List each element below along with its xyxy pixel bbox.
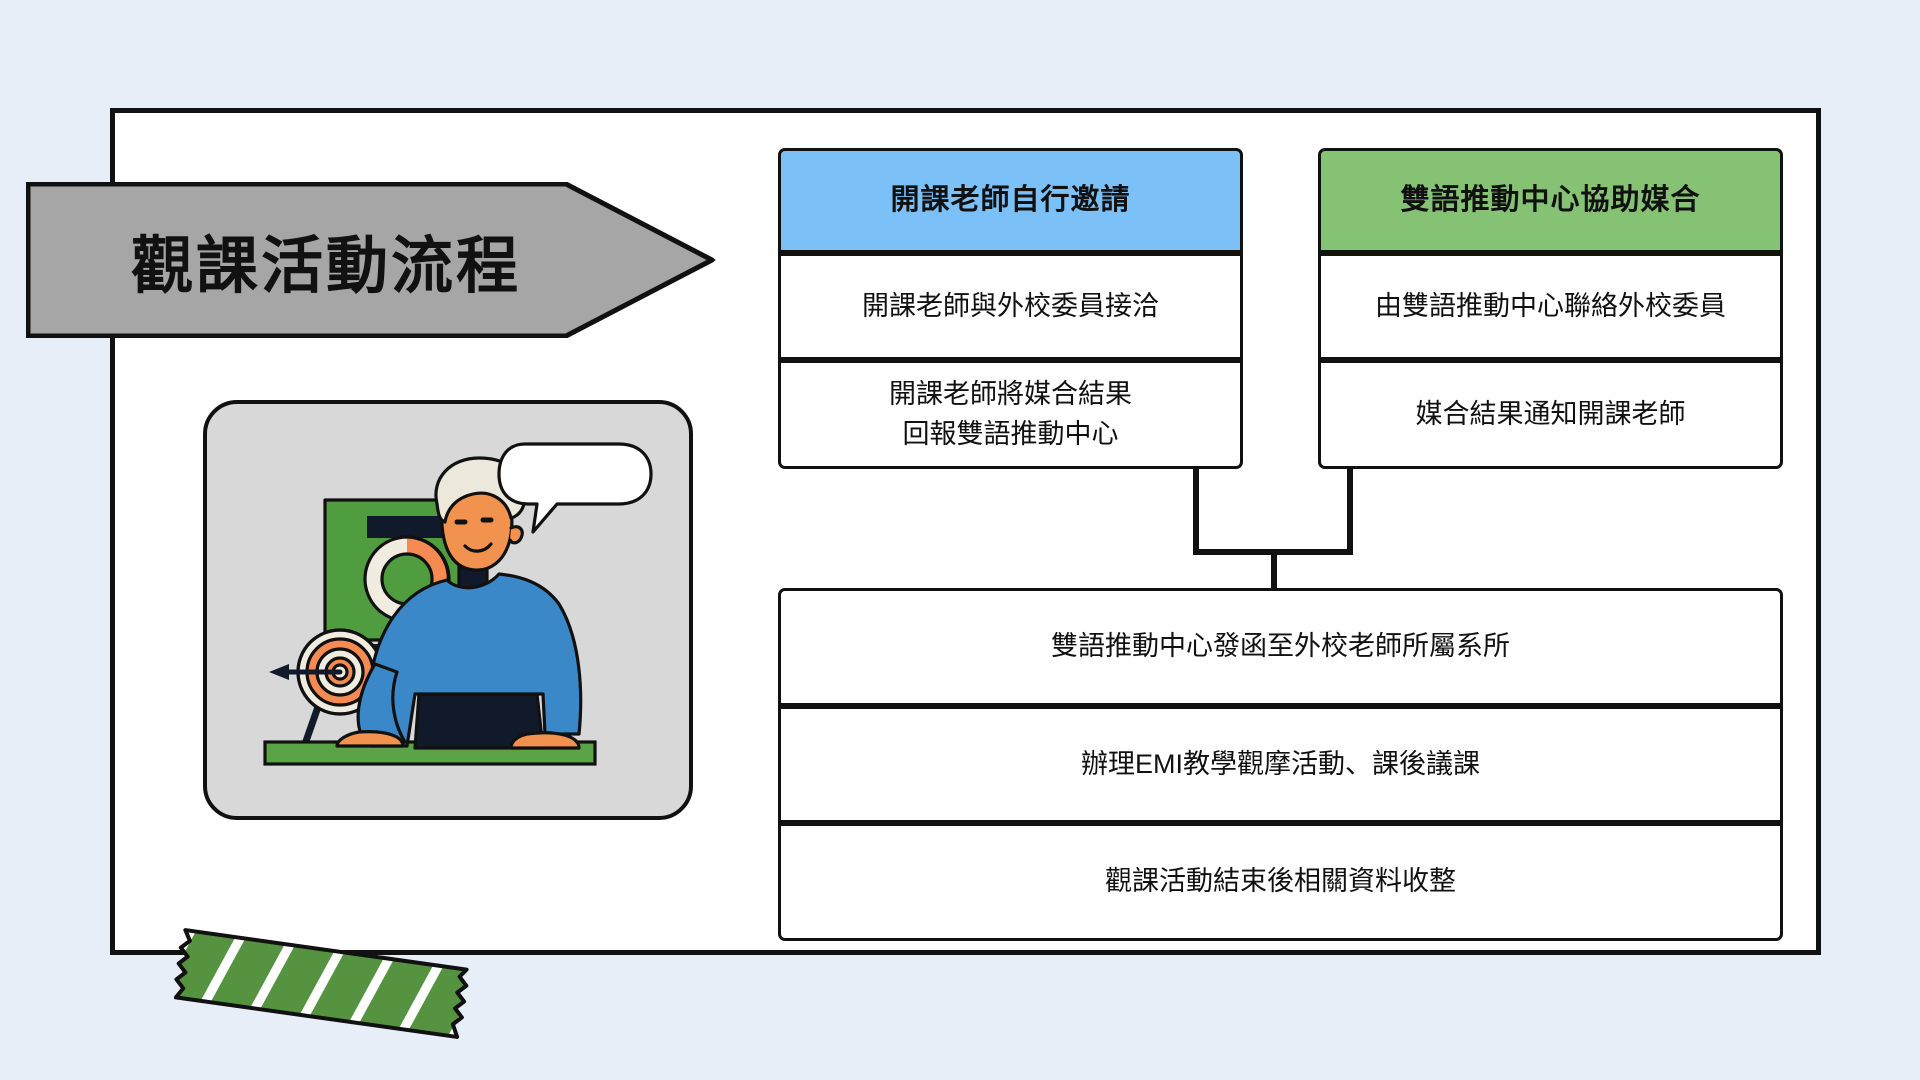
blue-step-2-line2: 回報雙語推動中心 xyxy=(903,419,1119,449)
blue-step-2-line1: 開課老師將媒合結果 xyxy=(889,379,1132,409)
flow-connector xyxy=(1140,460,1440,600)
shared-step-1[interactable]: 雙語推動中心發函至外校老師所屬系所 xyxy=(778,588,1783,706)
blue-step-1[interactable]: 開課老師與外校委員接洽 xyxy=(778,253,1243,360)
shared-step-2[interactable]: 辦理EMI教學觀摩活動、課後議課 xyxy=(778,706,1783,823)
green-step-2[interactable]: 媒合結果通知開課老師 xyxy=(1318,360,1783,469)
column-header-center-match[interactable]: 雙語推動中心協助媒合 xyxy=(1318,148,1783,253)
column-header-self-invite[interactable]: 開課老師自行邀請 xyxy=(778,148,1243,253)
presenter-illustration xyxy=(207,404,689,816)
shared-step-3[interactable]: 觀課活動結束後相關資料收整 xyxy=(778,823,1783,941)
blue-step-2[interactable]: 開課老師將媒合結果 回報雙語推動中心 xyxy=(778,360,1243,469)
illustration-card xyxy=(203,400,693,820)
page-title: 觀課活動流程 xyxy=(26,182,626,338)
green-step-1[interactable]: 由雙語推動中心聯絡外校委員 xyxy=(1318,253,1783,360)
diagram-canvas: 觀課活動流程 xyxy=(0,0,1920,1080)
